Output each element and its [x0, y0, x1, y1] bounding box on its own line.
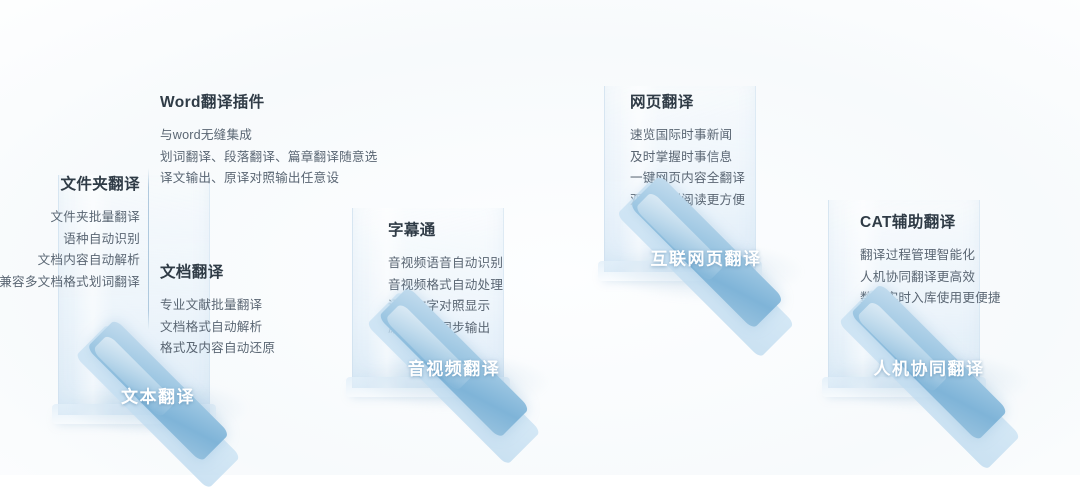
- list-item: 文档格式自动解析: [160, 317, 340, 339]
- block-heading: 字幕通: [388, 218, 588, 240]
- platform-av-translation[interactable]: 音视频翻译: [348, 319, 560, 415]
- list-item: 划词翻译、段落翻译、篇章翻译随意选: [160, 147, 440, 169]
- platform-text-translation[interactable]: 文本翻译: [58, 349, 258, 441]
- list-item: 文件夹批量翻译: [0, 207, 140, 229]
- platform-label: 音视频翻译: [348, 355, 560, 380]
- platform-label: 文本翻译: [58, 383, 258, 408]
- block-heading: 文档翻译: [160, 260, 340, 282]
- block-heading: 网页翻译: [630, 90, 830, 112]
- block-list: 与word无缝集成 划词翻译、段落翻译、篇章翻译随意选 译文输出、原译对照输出任…: [160, 125, 440, 190]
- list-item: 及时掌握时事信息: [630, 147, 830, 169]
- infographic-canvas: 文件夹翻译 文件夹批量翻译 语种自动识别 文档内容自动解析 兼容多文档格式划词翻…: [0, 0, 1080, 475]
- list-item: 译文输出、原译对照输出任意设: [160, 168, 440, 190]
- list-item: 音视频语音自动识别: [388, 253, 588, 275]
- list-item: 专业文献批量翻译: [160, 295, 340, 317]
- list-item: 与word无缝集成: [160, 125, 440, 147]
- list-item: 音视频格式自动处理: [388, 275, 588, 297]
- block-heading: 文件夹翻译: [0, 172, 140, 194]
- list-item: 文档内容自动解析: [0, 250, 140, 272]
- platform-label: 互联网页翻译: [598, 245, 814, 270]
- list-item: 语种自动识别: [0, 229, 140, 251]
- list-item: 翻译过程管理智能化: [860, 245, 1080, 267]
- block-heading: CAT辅助翻译: [860, 210, 1080, 232]
- block-heading: Word翻译插件: [160, 90, 440, 112]
- column-divider-left: [148, 168, 149, 330]
- block-word-plugin: Word翻译插件 与word无缝集成 划词翻译、段落翻译、篇章翻译随意选 译文输…: [160, 90, 440, 190]
- list-item: 人机协同翻译更高效: [860, 267, 1080, 289]
- platform-human-machine-translation[interactable]: 人机协同翻译: [818, 318, 1040, 416]
- platform-label: 人机协同翻译: [818, 355, 1040, 380]
- block-list: 文件夹批量翻译 语种自动识别 文档内容自动解析 兼容多文档格式划词翻译: [0, 207, 140, 293]
- platform-web-translation[interactable]: 互联网页翻译: [598, 208, 814, 306]
- block-document-translation: 文档翻译 专业文献批量翻译 文档格式自动解析 格式及内容自动还原: [160, 260, 340, 360]
- list-item: 兼容多文档格式划词翻译: [0, 272, 140, 294]
- block-folder-translation: 文件夹翻译 文件夹批量翻译 语种自动识别 文档内容自动解析 兼容多文档格式划词翻…: [0, 172, 140, 293]
- list-item: 速览国际时事新闻: [630, 125, 830, 147]
